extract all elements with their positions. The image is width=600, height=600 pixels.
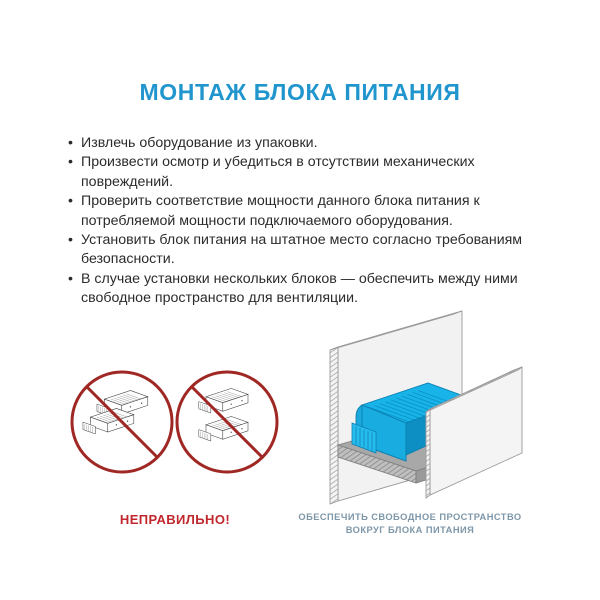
bullet-icon: • <box>68 134 73 153</box>
caption-correct-line2: ВОКРУГ БЛОКА ПИТАНИЯ <box>280 524 540 537</box>
list-item-text: Произвести осмотр и убедиться в отсутств… <box>81 154 475 189</box>
list-item: • Произвести осмотр и убедиться в отсутс… <box>68 153 538 192</box>
list-item: • Установить блок питания на штатное мес… <box>68 231 538 270</box>
bullet-icon: • <box>68 192 73 211</box>
list-item-text: Извлечь оборудование из упаковки. <box>81 135 318 151</box>
caption-correct: ОБЕСПЕЧИТЬ СВОБОДНОЕ ПРОСТРАНСТВО ВОКРУГ… <box>280 511 540 536</box>
bullet-icon: • <box>68 270 73 289</box>
list-item-text: Установить блок питания на штатное место… <box>81 232 522 267</box>
page-title: МОНТАЖ БЛОКА ПИТАНИЯ <box>0 80 600 105</box>
prohibited-arrangements-illustration <box>70 362 280 482</box>
correct-mounting-illustration <box>300 305 530 505</box>
prohibition-sign-stacked <box>177 372 277 472</box>
prohibition-sign-side-by-side <box>72 372 172 472</box>
caption-correct-line1: ОБЕСПЕЧИТЬ СВОБОДНОЕ ПРОСТРАНСТВО <box>280 511 540 524</box>
list-item: • Проверить соответствие мощности данног… <box>68 192 538 231</box>
caption-wrong: НЕПРАВИЛЬНО! <box>60 512 290 527</box>
instruction-sheet: МОНТАЖ БЛОКА ПИТАНИЯ • Извлечь оборудова… <box>0 0 600 600</box>
list-item: • Извлечь оборудование из упаковки. <box>68 134 538 153</box>
bullet-icon: • <box>68 153 73 172</box>
bullet-icon: • <box>68 231 73 250</box>
list-item-text: Проверить соответствие мощности данного … <box>81 193 480 228</box>
instruction-list: • Извлечь оборудование из упаковки. • Пр… <box>68 134 538 309</box>
